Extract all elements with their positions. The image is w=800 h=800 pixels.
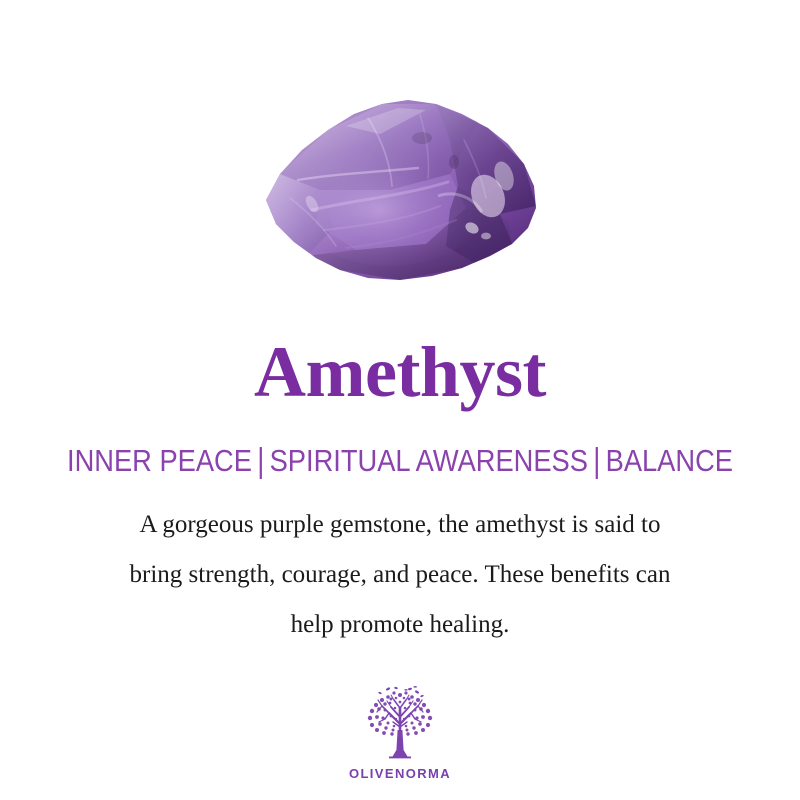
keyword-separator-2: | [588, 443, 606, 479]
keyword-separator-1: | [252, 443, 270, 479]
brand-logo: OLIVENORMA [0, 686, 800, 781]
page-title: Amethyst [0, 336, 800, 408]
description-line: help promote healing. [50, 600, 750, 650]
keyword-balance: BALANCE [606, 445, 733, 478]
description-line: bring strength, courage, and peace. Thes… [50, 550, 750, 600]
description-text: A gorgeous purple gemstone, the amethyst… [50, 500, 750, 650]
amethyst-crystal-image [250, 78, 550, 298]
keyword-inner-peace: INNER PEACE [67, 445, 252, 478]
amethyst-info-card: Amethyst INNER PEACE|SPIRITUAL AWARENESS… [0, 0, 800, 800]
crystal-body [250, 78, 550, 298]
keyword-line: INNER PEACE|SPIRITUAL AWARENESS|BALANCE [48, 445, 752, 478]
keyword-spiritual-awareness: SPIRITUAL AWARENESS [270, 445, 588, 478]
description-line: A gorgeous purple gemstone, the amethyst… [50, 500, 750, 550]
brand-name: OLIVENORMA [349, 766, 451, 781]
tree-logo-icon [358, 686, 442, 764]
amethyst-crystal-svg [250, 78, 550, 298]
